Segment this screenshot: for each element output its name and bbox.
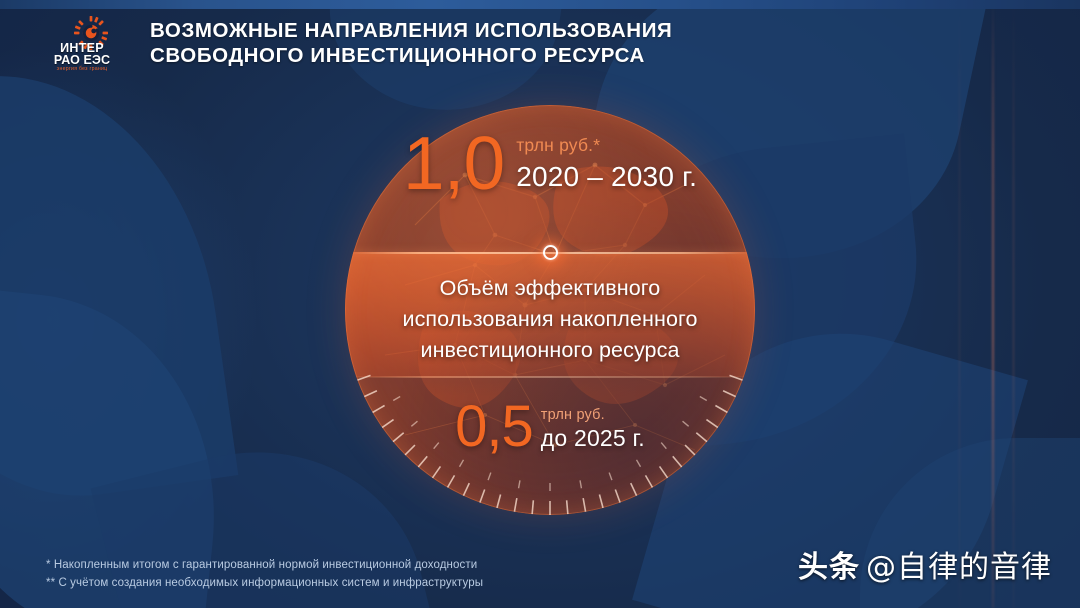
stat-bottom-value: 0,5 xyxy=(455,399,533,455)
slide-root: ИНТЕР РАО ЕЭС энергия без границ ВОЗМОЖН… xyxy=(0,0,1080,608)
page-title-line-1: ВОЗМОЖНЫЕ НАПРАВЛЕНИЯ ИСПОЛЬЗОВАНИЯ xyxy=(150,18,672,43)
top-accent-bar xyxy=(0,0,1080,9)
footnote-2: ** С учётом создания необходимых информа… xyxy=(46,574,483,592)
stat-top-meta: трлн руб.* 2020 – 2030 г. xyxy=(504,127,697,193)
stat-bottom-period: до 2025 г. xyxy=(541,425,645,451)
stat-bottom-unit: трлн руб. xyxy=(541,408,645,423)
stat-top-period: 2020 – 2030 г. xyxy=(516,161,697,193)
logo-word-line2: РАО ЕЭС xyxy=(36,55,128,67)
globe-caption-line-1: Объём эффективного xyxy=(339,273,761,304)
background-streak-2 xyxy=(1013,0,1014,608)
watermark: 头条@自律的音律 xyxy=(798,542,1052,586)
logo-wordmark: ИНТЕР РАО ЕЭС xyxy=(36,43,128,66)
stat-top-value: 1,0 xyxy=(403,127,504,199)
stat-bottom: 0,5 трлн руб. до 2025 г. xyxy=(345,399,755,455)
page-title-line-2: СВОБОДНОГО ИНВЕСТИЦИОННОГО РЕСУРСА xyxy=(150,43,672,68)
watermark-handle: @自律的音律 xyxy=(866,550,1052,585)
slide-header: ИНТЕР РАО ЕЭС энергия без границ ВОЗМОЖН… xyxy=(0,9,672,68)
page-title: ВОЗМОЖНЫЕ НАПРАВЛЕНИЯ ИСПОЛЬЗОВАНИЯ СВОБ… xyxy=(150,15,672,68)
footnote-1: * Накопленным итогом с гарантированной н… xyxy=(46,556,483,574)
company-logo: ИНТЕР РАО ЕЭС энергия без границ xyxy=(36,16,128,68)
globe-caption-line-2: использования накопленного xyxy=(339,304,761,335)
background-shape-leaf-1 xyxy=(0,49,238,521)
logo-tagline: энергия без границ xyxy=(36,66,128,72)
stat-top: 1,0 трлн руб.* 2020 – 2030 г. xyxy=(345,127,755,199)
background-streak-3 xyxy=(959,0,960,608)
globe-content: 1,0 трлн руб.* 2020 – 2030 г. Объём эффе… xyxy=(345,105,755,515)
footnotes: * Накопленным итогом с гарантированной н… xyxy=(46,556,483,592)
stat-top-unit: трлн руб.* xyxy=(516,136,697,155)
background-streak-1 xyxy=(992,0,994,608)
stat-bottom-meta: трлн руб. до 2025 г. xyxy=(533,399,645,451)
globe-caption-line-3: инвестиционного ресурса xyxy=(339,335,761,366)
background-glow xyxy=(0,40,260,600)
globe-caption: Объём эффективного использования накопле… xyxy=(339,273,761,366)
globe-infographic: 1,0 трлн руб.* 2020 – 2030 г. Объём эффе… xyxy=(345,105,755,515)
watermark-brand: 头条 xyxy=(798,550,860,585)
